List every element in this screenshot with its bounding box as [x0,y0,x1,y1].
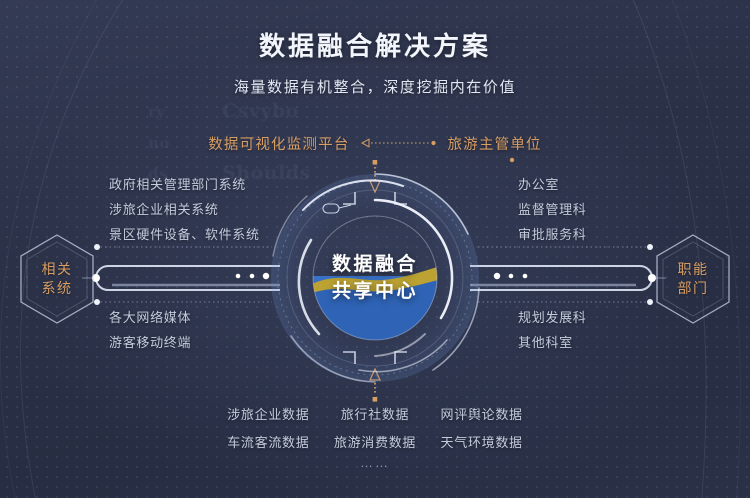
list-item: 景区硬件设备、软件系统 [109,222,260,247]
left-column-top: 政府相关管理部门系统 涉旅企业相关系统 景区硬件设备、软件系统 [109,172,260,247]
hexagon-right-label: 职能 部门 [650,231,736,327]
page-subtitle: 海量数据有机整合，深度挖掘内在价值 [0,76,750,97]
right-column-top: 办公室 监督管理科 审批服务科 [518,172,587,247]
watermark-row: ryCsvybo [148,96,378,127]
core-label: 数据融合 共享中心 [255,158,495,398]
list-item: 天气环境数据 [428,431,535,455]
label-visualization-platform: 数据可视化监测平台 [208,133,349,154]
right-column-bottom: 规划发展科 其他科室 [518,305,587,355]
list-item: 规划发展科 [518,305,587,330]
dotted-arrow-connector [360,137,438,149]
list-item: 游客移动终端 [109,330,191,355]
list-item: 监督管理科 [518,197,587,222]
bottom-data-grid: 涉旅企业数据 旅行社数据 网评舆论数据 车流客流数据 旅游消费数据 天气环境数据 [215,403,535,455]
bottom-ellipsis: …… [215,455,535,470]
list-item: 旅行社数据 [322,403,429,427]
infographic-canvas: ryCsvybo noCategor dsShoulds 数据融合解决方案 海量… [0,0,750,498]
tourism-authority-connector-dot [506,155,518,181]
page-title: 数据融合解决方案 [0,26,750,63]
left-column-bottom: 各大网络媒体 游客移动终端 [109,305,191,355]
list-item: 网评舆论数据 [428,403,535,427]
list-item: 各大网络媒体 [109,305,191,330]
top-label-row: 数据可视化监测平台 旅游主管单位 [0,132,750,154]
list-item: 涉旅企业相关系统 [109,197,260,222]
list-item: 政府相关管理部门系统 [109,172,260,197]
list-item: 审批服务科 [518,222,587,247]
list-item: 车流客流数据 [215,431,322,455]
list-item: 办公室 [518,172,587,197]
list-item: 涉旅企业数据 [215,403,322,427]
label-tourism-authority: 旅游主管单位 [448,133,542,154]
header: 数据融合解决方案 海量数据有机整合，深度挖掘内在价值 [0,0,750,97]
hexagon-left-label: 相关 系统 [14,231,100,327]
list-item: 旅游消费数据 [322,431,429,455]
list-item: 其他科室 [518,330,587,355]
